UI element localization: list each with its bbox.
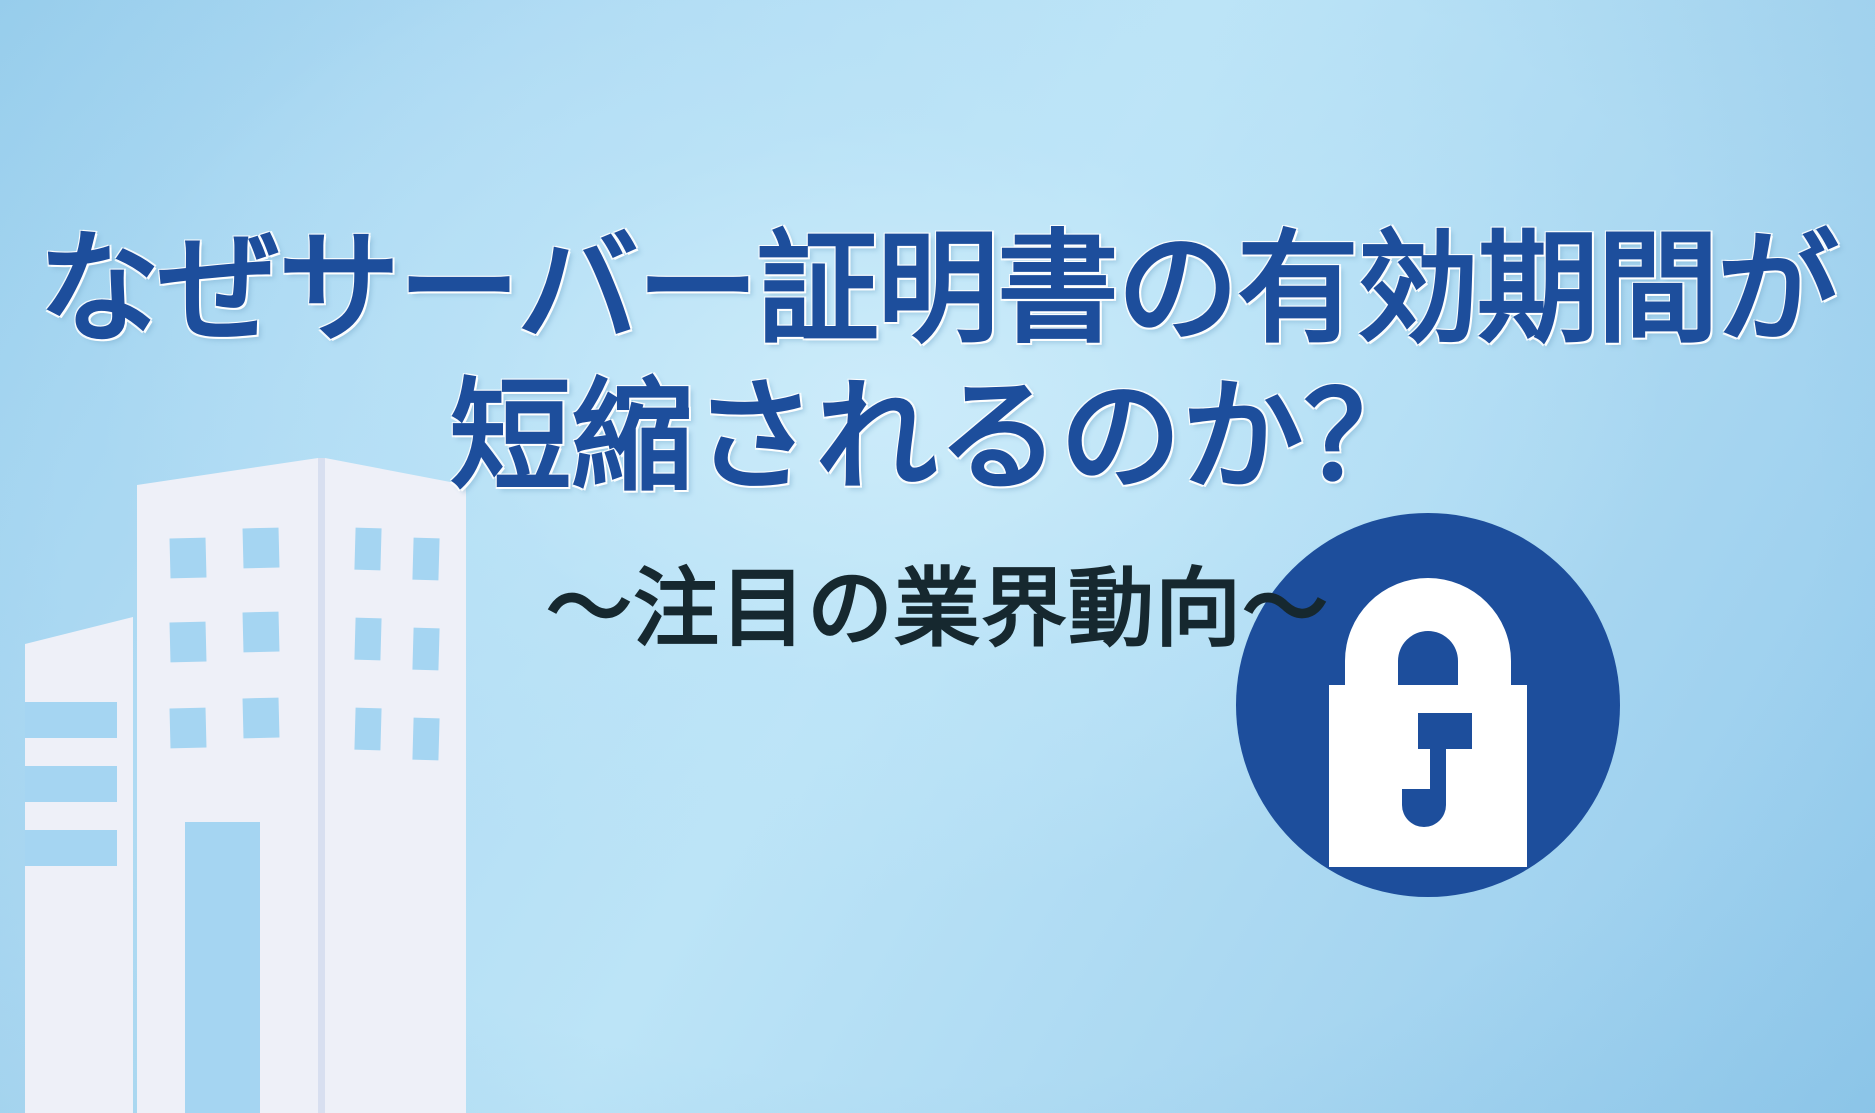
building-annex <box>25 617 133 1113</box>
office-building-illustration <box>0 450 480 1113</box>
building-main-front <box>137 458 318 1113</box>
thumbnail-canvas: なぜサーバー証明書の有効期間が 短縮されるのか？ 〜注目の業界動向〜 <box>0 0 1875 1113</box>
building-main-side <box>325 458 466 1113</box>
building-seam <box>318 458 325 1113</box>
padlock-badge <box>1196 513 1660 897</box>
lock-body <box>1329 685 1527 867</box>
